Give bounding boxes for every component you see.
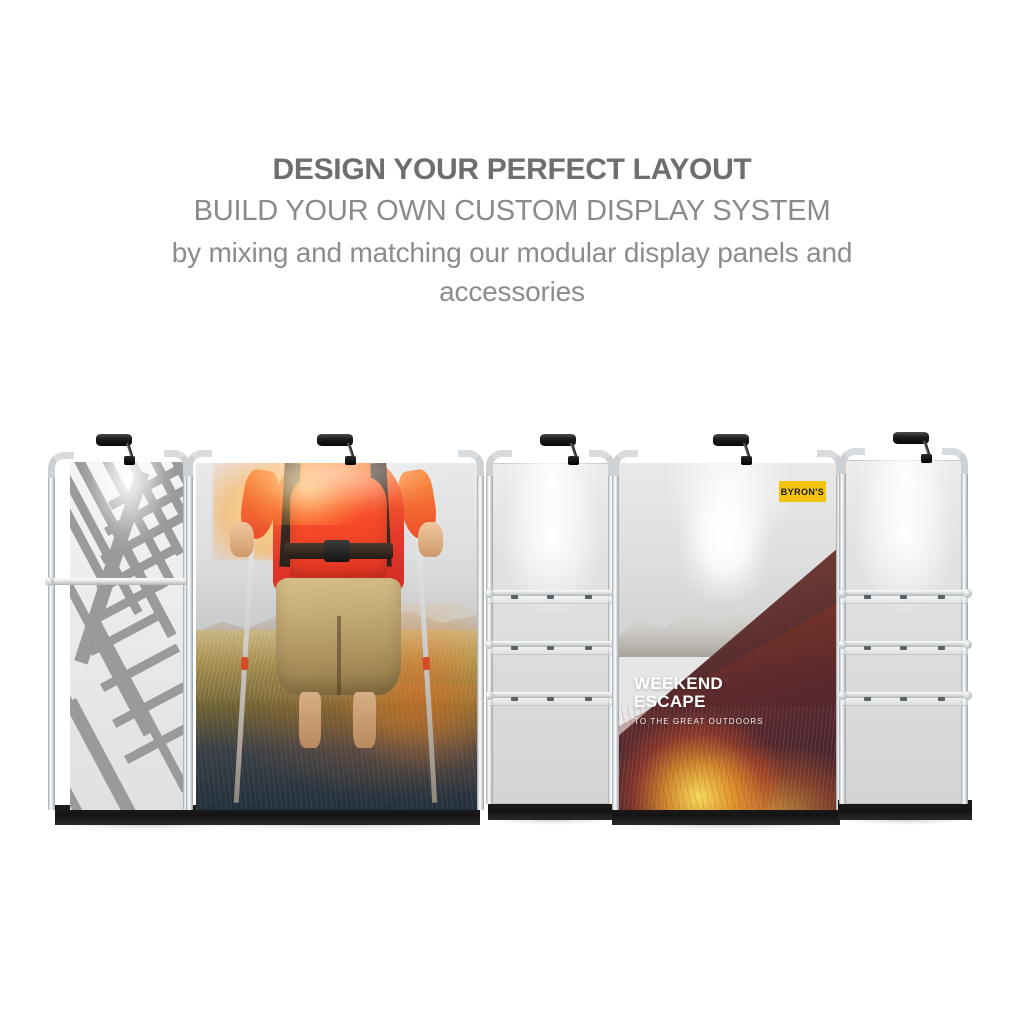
panel-subheading: TO THE GREAT OUTDOORS [634,717,764,726]
module-4-graphic-panel[interactable]: BYRON'S WEEKEND ESCAPE TO THE GREAT OUTD… [618,463,840,810]
module-5-elbow-right [942,448,968,474]
module-4-spotlight[interactable] [713,434,757,468]
module-5-shelf-1[interactable] [842,590,968,603]
byrons-logo: BYRON'S [779,481,826,502]
module-1-post-left [48,472,55,810]
byrons-logo-text: BYRON'S [781,487,824,497]
module-3-post-left [486,468,493,804]
module-1-elbow-left [48,452,74,478]
module-2-elbow-right [458,450,484,476]
module-3-shelf-1[interactable] [489,590,615,603]
module-5-post-right [961,466,968,804]
module-4-elbow-left [612,450,638,476]
module-5-elbow-left [839,448,865,474]
module-1-cross-rail [50,578,188,585]
spotlight-mount [741,456,752,465]
module-3-spotlight[interactable] [540,434,584,468]
module-5-spotlight[interactable] [893,432,937,466]
module-5-post-left [839,466,846,804]
module-3-elbow-left [486,450,512,476]
module-5-graphic-panel[interactable] [845,460,965,804]
module-4-post-left [612,468,619,810]
spotlight-mount [568,456,579,465]
exhibit-display-system: BYRON'S WEEKEND ESCAPE TO THE GREAT OUTD… [0,0,1024,1024]
panel-heading-line1: WEEKEND [634,675,764,693]
mountain-sunset-artwork [618,463,840,810]
module-2-elbow-left [186,450,212,476]
panel-heading-line2: ESCAPE [634,693,764,711]
geometric-stripes-artwork [70,462,185,810]
weekend-escape-copy: WEEKEND ESCAPE TO THE GREAT OUTDOORS [634,675,764,726]
module-5-shelf-2[interactable] [842,641,968,654]
module-2-spotlight[interactable] [317,434,361,468]
module-1-spotlight[interactable] [96,434,140,468]
spotlight-mount [124,456,135,465]
module-1-graphic-panel[interactable] [70,462,185,810]
module-2-graphic-panel[interactable] [196,463,481,810]
module-5-shelf-3[interactable] [842,692,968,705]
spotlight-mount [345,456,356,465]
module-2-post-right [477,468,484,810]
module-2-post-left [186,468,193,810]
hiker-photo-artwork [196,463,481,810]
module-3-shelf-2[interactable] [489,641,615,654]
module-3-shelf-3[interactable] [489,692,615,705]
spotlight-mount [921,454,932,463]
module-3-graphic-panel[interactable] [492,463,612,804]
